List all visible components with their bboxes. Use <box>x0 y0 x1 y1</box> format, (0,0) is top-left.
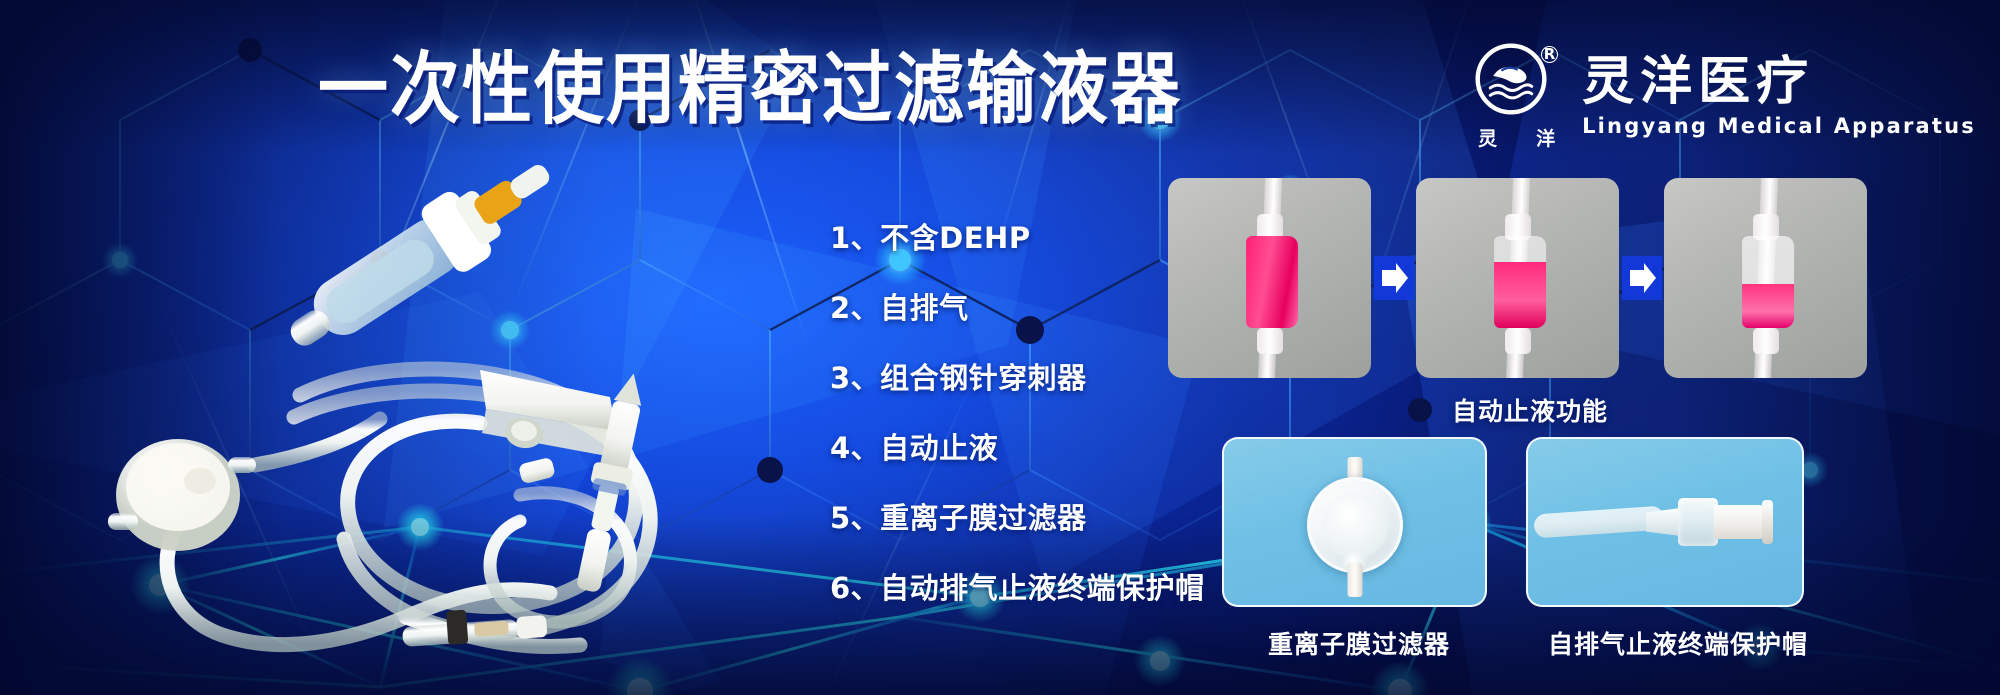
filter-housing <box>1307 477 1403 573</box>
feature-item-5: 5、重离子膜过滤器 <box>830 495 1205 537</box>
feature-item-1: 1、不含DEHP <box>830 215 1205 257</box>
drip-chamber-liquid <box>1494 236 1546 328</box>
sequence-frame-3 <box>1664 178 1867 378</box>
brand-name-en: Lingyang Medical Apparatus <box>1582 114 1976 138</box>
drip-chamber <box>272 165 569 371</box>
tube-joint-bottom <box>1505 328 1531 354</box>
connector-luer-hub <box>1678 498 1718 546</box>
logo-char-left: 灵 <box>1478 124 1498 151</box>
arrow-right-icon <box>1374 256 1414 300</box>
sequence-arrow-2 <box>1619 256 1664 300</box>
card-caption-cap: 自排气止液终端保护帽 <box>1548 625 1808 661</box>
sequence-frame-1 <box>1168 178 1371 378</box>
feature-item-3: 3、组合钢针穿刺器 <box>830 355 1205 397</box>
banner-title: 一次性使用精密过滤输液器 <box>318 50 1182 128</box>
logo-char-right: 洋 <box>1536 124 1556 151</box>
auto-stop-sequence <box>1168 178 1867 378</box>
feature-item-6: 6、自动排气止液终端保护帽 <box>830 565 1205 607</box>
y-connector <box>518 457 556 485</box>
filter-membrane <box>1322 492 1388 558</box>
feature-list: 1、不含DEHP 2、自排气 3、组合钢针穿刺器 4、自动止液 5、重离子膜过滤… <box>830 215 1205 607</box>
card-caption-filter: 重离子膜过滤器 <box>1268 625 1450 661</box>
arrow-right-icon <box>1622 256 1662 300</box>
card-terminal-protective-cap <box>1526 437 1804 607</box>
connector-tubing <box>1533 505 1664 538</box>
filter-disc <box>108 439 256 551</box>
sequence-frame-2 <box>1416 178 1619 378</box>
drip-chamber-liquid <box>1246 236 1298 328</box>
product-photo-infusion-set <box>50 165 810 665</box>
drip-chamber-liquid <box>1742 236 1794 328</box>
connector-flange <box>1762 500 1773 544</box>
card-heavy-ion-membrane-filter <box>1222 437 1487 607</box>
logo-mark-characters: 灵 洋 <box>1474 124 1560 151</box>
filter-outlet-nipple <box>1347 563 1362 597</box>
product-banner: 一次性使用精密过滤输液器 R 灵 洋 灵洋医疗 Lingyang Medical… <box>0 0 2000 695</box>
wave-circle-icon <box>1474 42 1548 116</box>
brand-name-cn: 灵洋医疗 <box>1582 55 1976 110</box>
brand-logo: R 灵 洋 灵洋医疗 Lingyang Medical Apparatus <box>1474 42 1976 151</box>
logo-mark: R 灵 洋 <box>1474 42 1560 151</box>
connector-protective-cap <box>1714 505 1766 539</box>
tube-joint-bottom <box>1257 328 1283 354</box>
feature-item-2: 2、自排气 <box>830 285 1205 327</box>
logo-wordmark: 灵洋医疗 Lingyang Medical Apparatus <box>1582 55 1976 138</box>
registered-trademark-icon: R <box>1541 46 1558 63</box>
tube-joint-bottom <box>1753 328 1779 354</box>
feature-item-4: 4、自动止液 <box>830 425 1205 467</box>
sequence-arrow-1 <box>1371 256 1416 300</box>
sequence-caption: 自动止液功能 <box>1452 392 1608 428</box>
